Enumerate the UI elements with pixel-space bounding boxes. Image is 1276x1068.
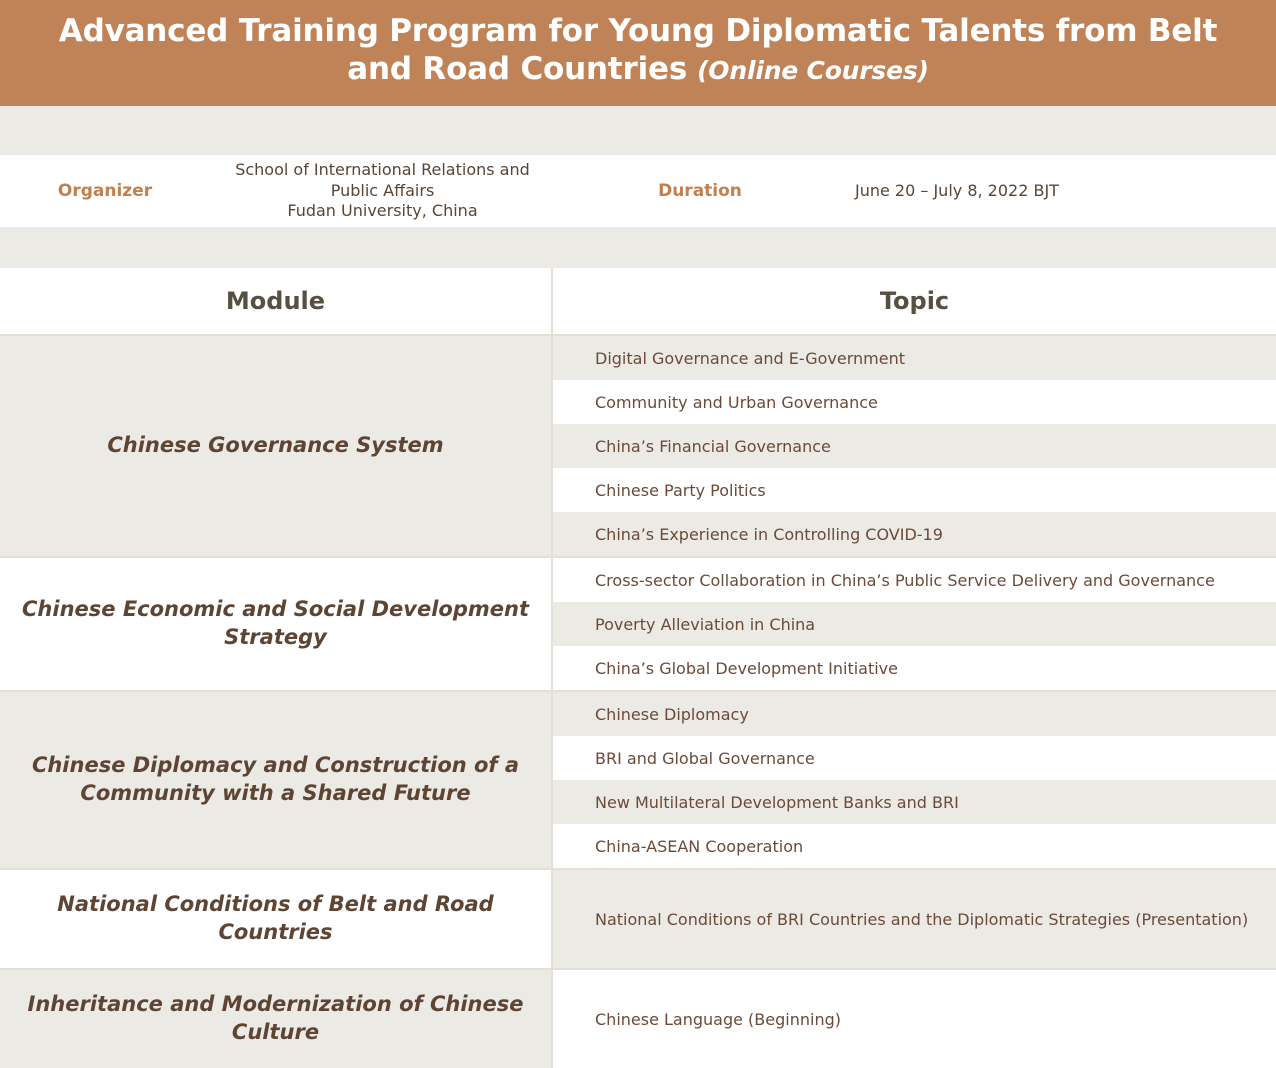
topic-cell: Digital Governance and E-Government <box>552 335 1276 380</box>
page-title: Advanced Training Program for Young Dipl… <box>59 13 1217 87</box>
duration-label: Duration <box>555 181 845 201</box>
banner-title-block: Advanced Training Program for Young Dipl… <box>24 13 1252 89</box>
topic-cell: China-ASEAN Cooperation <box>552 824 1276 869</box>
module-cell: Chinese Diplomacy and Construction of a … <box>0 691 552 869</box>
meta-strip: Organizer School of International Relati… <box>0 155 1276 227</box>
table-row: Chinese Governance SystemDigital Governa… <box>0 335 1276 380</box>
topic-cell: Cross-sector Collaboration in China’s Pu… <box>552 557 1276 602</box>
topic-cell: Poverty Alleviation in China <box>552 602 1276 646</box>
topic-cell: New Multilateral Development Banks and B… <box>552 780 1276 824</box>
module-cell: Chinese Governance System <box>0 335 552 557</box>
table-row: National Conditions of Belt and Road Cou… <box>0 869 1276 969</box>
topic-cell: National Conditions of BRI Countries and… <box>552 869 1276 969</box>
topic-cell: China’s Experience in Controlling COVID-… <box>552 512 1276 557</box>
curriculum-table: Module Topic Chinese Governance SystemDi… <box>0 268 1276 1068</box>
module-cell: Inheritance and Modernization of Chinese… <box>0 969 552 1068</box>
module-cell: Chinese Economic and Social Development … <box>0 557 552 691</box>
organizer-value: School of International Relations and Pu… <box>210 160 555 221</box>
spacer-band-mid <box>0 227 1276 268</box>
organizer-label: Organizer <box>0 181 210 201</box>
topic-cell: China’s Global Development Initiative <box>552 646 1276 691</box>
topic-cell: Chinese Language (Beginning) <box>552 969 1276 1068</box>
topic-cell: China’s Financial Governance <box>552 424 1276 468</box>
banner: Advanced Training Program for Young Dipl… <box>0 0 1276 106</box>
topic-cell: BRI and Global Governance <box>552 736 1276 780</box>
duration-value: June 20 – July 8, 2022 BJT <box>845 181 1276 201</box>
program-poster: Advanced Training Program for Young Dipl… <box>0 0 1276 1046</box>
spacer-band-top <box>0 106 1276 155</box>
column-header-module: Module <box>0 268 552 335</box>
module-cell: National Conditions of Belt and Road Cou… <box>0 869 552 969</box>
table-row: Inheritance and Modernization of Chinese… <box>0 969 1276 1068</box>
banner-subtitle: (Online Courses) <box>697 56 929 85</box>
topic-cell: Chinese Diplomacy <box>552 691 1276 736</box>
topic-cell: Community and Urban Governance <box>552 380 1276 424</box>
table-body: Chinese Governance SystemDigital Governa… <box>0 335 1276 1068</box>
table-header-row: Module Topic <box>0 268 1276 335</box>
column-header-topic: Topic <box>552 268 1276 335</box>
table-row: Chinese Diplomacy and Construction of a … <box>0 691 1276 736</box>
table-row: Chinese Economic and Social Development … <box>0 557 1276 602</box>
table-head: Module Topic <box>0 268 1276 335</box>
topic-cell: Chinese Party Politics <box>552 468 1276 512</box>
